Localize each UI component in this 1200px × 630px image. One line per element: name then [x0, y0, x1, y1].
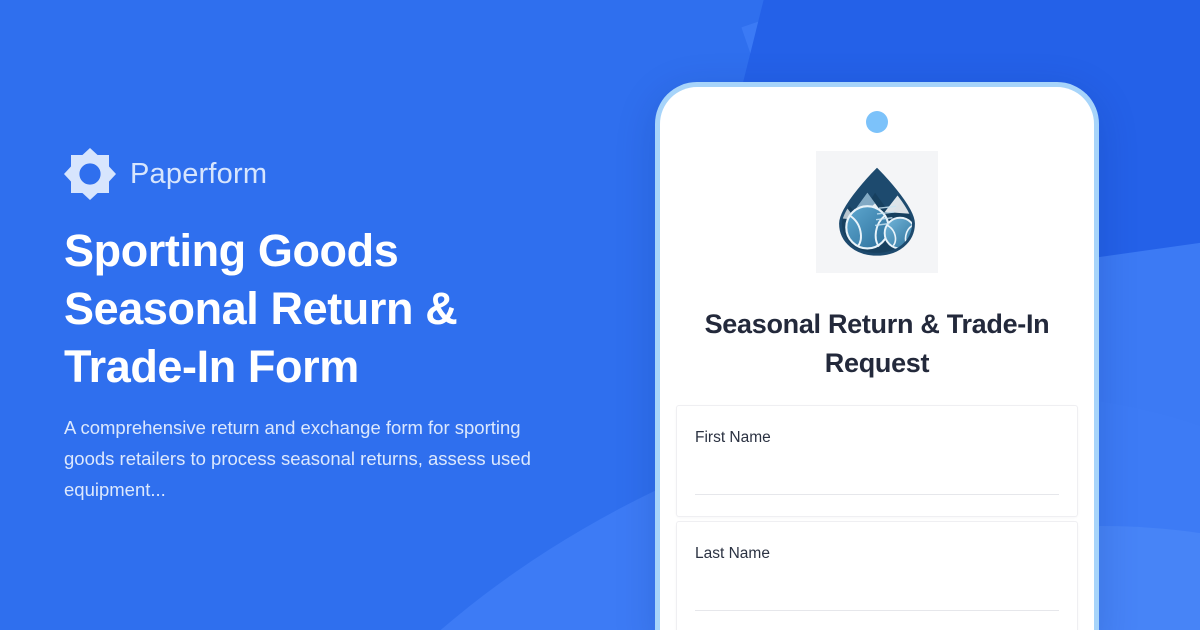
camera-dot-icon — [866, 111, 888, 133]
page-title: Sporting Goods Seasonal Return & Trade-I… — [64, 222, 564, 396]
form-title: Seasonal Return & Trade-In Request — [688, 305, 1066, 383]
phone-mockup: Seasonal Return & Trade-In Request First… — [655, 82, 1099, 630]
page-description: A comprehensive return and exchange form… — [64, 412, 544, 505]
field-input-underline[interactable] — [695, 494, 1059, 495]
paperform-starburst-icon — [64, 148, 116, 200]
form-field-first-name[interactable]: First Name — [676, 405, 1078, 517]
paperform-brand: Paperform — [64, 148, 267, 200]
form-fields: First Name Last Name — [676, 405, 1078, 630]
mountain-tennis-ball-logo-icon — [816, 151, 938, 273]
field-label: Last Name — [695, 544, 1059, 564]
field-input-underline[interactable] — [695, 610, 1059, 611]
field-label: First Name — [695, 428, 1059, 448]
form-field-last-name[interactable]: Last Name — [676, 521, 1078, 630]
hero-content: Paperform Sporting Goods Seasonal Return… — [64, 0, 584, 630]
paperform-wordmark: Paperform — [130, 158, 267, 191]
preview-card: Paperform Sporting Goods Seasonal Return… — [0, 0, 1200, 630]
